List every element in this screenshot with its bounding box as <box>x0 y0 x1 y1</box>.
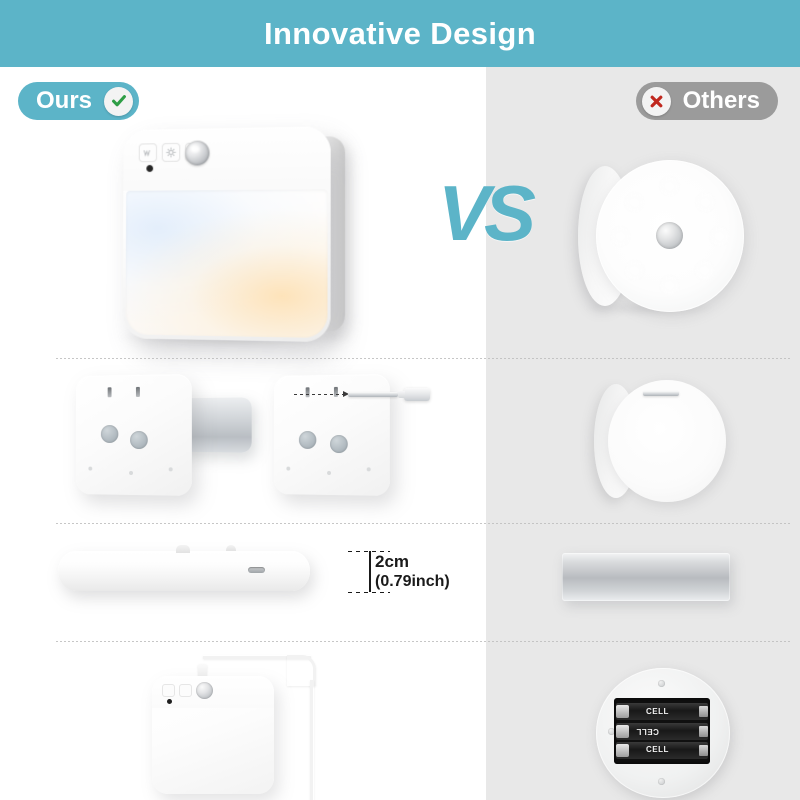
usb-port-icon <box>248 567 265 573</box>
puck-led <box>694 260 715 281</box>
puck-led <box>659 176 680 197</box>
mode-button-icon <box>139 143 157 162</box>
magnet-disc <box>101 425 118 443</box>
battery-terminal <box>616 705 629 718</box>
battery-compartment: CELL CELL CELL <box>596 668 730 798</box>
row-divider-2 <box>56 523 790 524</box>
wall-hook-slot <box>306 387 310 397</box>
battery-label: CELL <box>646 708 669 716</box>
brightness-button-icon <box>179 684 192 697</box>
puck-led <box>624 192 645 213</box>
header-banner: Innovative Design <box>0 0 800 67</box>
dimension-value-inch: (0.79inch) <box>375 572 485 592</box>
brightness-button-icon <box>162 143 180 162</box>
battery-bay: CELL CELL CELL <box>614 698 710 764</box>
battery-terminal <box>616 744 629 757</box>
puck-led <box>610 226 631 247</box>
screw-hole <box>327 471 331 475</box>
wall-hook-slot <box>334 387 338 397</box>
puck-led <box>659 275 680 296</box>
screw-hole <box>286 467 290 471</box>
puck-mounting-screw <box>643 391 679 396</box>
screw-hole <box>367 467 371 471</box>
screw-hole <box>169 467 173 471</box>
magnet-disc <box>330 435 348 453</box>
mode-button-icon <box>162 684 175 697</box>
battery-cell: CELL <box>616 703 708 720</box>
cross-icon <box>642 87 671 116</box>
battery-terminal <box>699 745 708 756</box>
ours-badge: Ours <box>18 82 139 120</box>
square-night-light <box>123 126 331 342</box>
puck-light-face <box>596 160 744 312</box>
screw-hole <box>88 467 92 471</box>
screw-direction-arrow <box>294 394 348 395</box>
magnet-disc <box>299 431 316 449</box>
battery-terminal <box>699 706 708 717</box>
infographic-page: Innovative Design Ours Others VS <box>0 0 800 800</box>
check-icon <box>104 87 133 116</box>
vs-label: VS <box>438 168 538 258</box>
charge-light-body <box>152 676 274 794</box>
row-divider-3 <box>56 641 790 642</box>
square-light-body <box>123 126 331 342</box>
dimension-line <box>369 551 371 592</box>
battery-terminal <box>616 725 629 738</box>
slim-side-profile <box>58 551 310 591</box>
battery-terminal <box>699 726 708 737</box>
wall-anchor <box>404 388 430 401</box>
battery-label: CELL <box>646 746 669 754</box>
wall-hook-slot <box>108 387 112 397</box>
row-divider-1 <box>56 358 790 359</box>
button-nub <box>226 545 236 551</box>
round-puck-light <box>578 160 704 312</box>
dimension-callout: 2cm (0.79inch) <box>375 552 485 592</box>
cover-screw <box>658 778 665 785</box>
light-sensor-icon <box>167 699 172 704</box>
dimension-value-cm: 2cm <box>375 552 485 572</box>
thick-side-profile <box>562 553 730 601</box>
puck-motion-sensor <box>656 222 683 249</box>
puck-light-back <box>594 380 706 502</box>
charge-light-buttons <box>162 684 192 697</box>
puck-led <box>695 192 716 213</box>
usb-rechargeable-light <box>152 676 274 794</box>
others-badge-label: Others <box>683 89 760 113</box>
charging-cable-run <box>310 680 314 800</box>
puck-back-face <box>608 380 726 502</box>
battery-cell: CELL <box>616 723 708 740</box>
cover-screw <box>658 680 665 687</box>
wall-hook-slot <box>136 387 140 397</box>
others-badge: Others <box>636 82 778 120</box>
sensor-nub <box>176 545 190 553</box>
battery-label: CELL <box>636 727 659 735</box>
motion-sensor-dome <box>196 682 213 699</box>
light-back-body <box>76 374 192 496</box>
dimension-tick-bottom <box>348 592 390 593</box>
puck-led <box>709 226 730 247</box>
battery-cover-disc: CELL CELL CELL <box>596 668 730 798</box>
square-light-diffuser-panel <box>126 189 328 338</box>
light-back-magnet-mount <box>74 375 192 495</box>
battery-cell: CELL <box>616 742 708 759</box>
mounting-screw <box>348 392 398 397</box>
screw-hole <box>129 471 133 475</box>
ours-badge-label: Ours <box>36 89 92 113</box>
magnet-disc <box>130 431 148 449</box>
puck-led <box>624 260 645 281</box>
page-title: Innovative Design <box>264 18 536 49</box>
